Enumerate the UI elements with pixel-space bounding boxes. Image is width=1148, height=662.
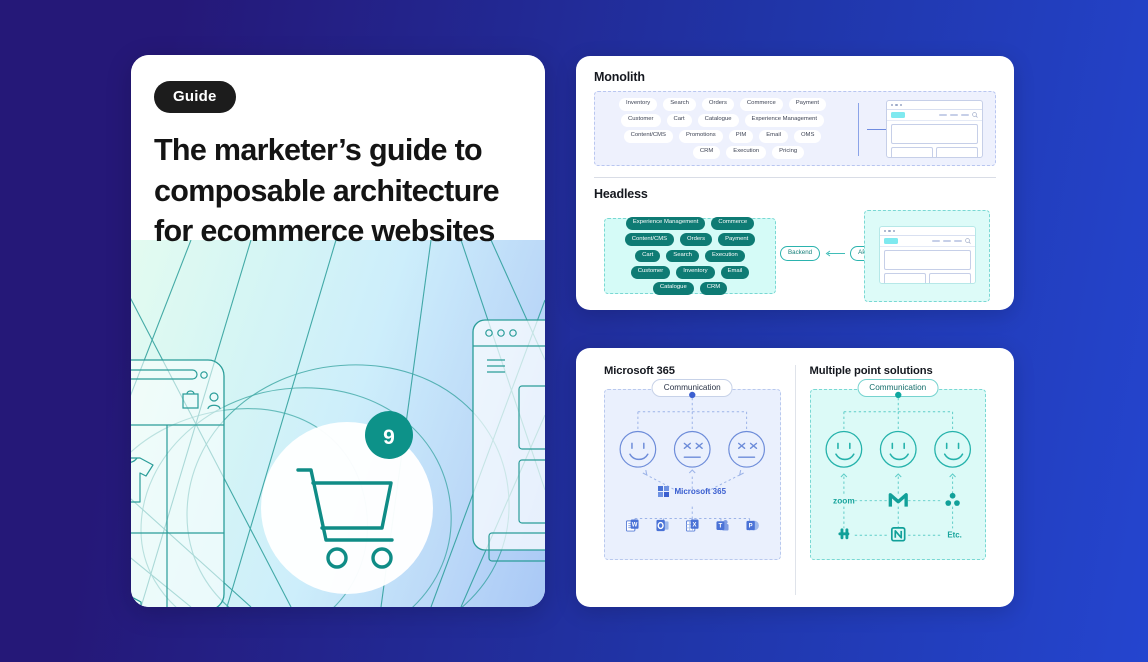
- cover-illustration: 9: [131, 240, 545, 607]
- multiple-point-solutions-graph: zoom: [811, 390, 986, 559]
- tag: Email: [759, 130, 788, 142]
- tag: Search: [663, 98, 696, 110]
- tag: Cart: [635, 250, 660, 263]
- excel-icon: X: [686, 519, 699, 532]
- window-dot: [900, 104, 902, 106]
- monolith-website-preview: [886, 100, 983, 158]
- happy-face: [944, 443, 962, 459]
- microsoft365-label: Microsoft 365: [674, 487, 726, 496]
- svg-text:P: P: [749, 524, 753, 530]
- tag: Email: [721, 266, 750, 279]
- tag: Catalogue: [653, 282, 694, 295]
- tag: Cart: [667, 114, 692, 126]
- tag: Search: [666, 250, 699, 263]
- nav-link: [961, 114, 969, 116]
- browser-titlebar: [880, 227, 975, 236]
- headless-heading: Headless: [594, 187, 996, 201]
- headless-tag-row: Catalogue CRM: [605, 282, 775, 295]
- tag: Promotions: [679, 130, 723, 142]
- site-nav-links: [939, 112, 978, 118]
- microsoft365-column: Microsoft 365 Communication: [590, 365, 796, 595]
- guide-cover-card: Guide The marketer’s guide to composable…: [131, 55, 545, 607]
- tag: OMS: [794, 130, 821, 142]
- cart-count-value: 9: [383, 426, 395, 449]
- architecture-card: Monolith Inventory Search Orders Commerc…: [576, 56, 1014, 310]
- illustration-artwork: 9: [131, 240, 545, 607]
- headless-tag-row: Content/CMS Orders Payment: [605, 233, 775, 246]
- arrow-left-icon: [825, 250, 845, 257]
- nav-link: [950, 114, 958, 116]
- tag: Customer: [621, 114, 661, 126]
- monolith-tag-row: Inventory Search Orders Commerce Payment: [605, 98, 840, 110]
- monolith-tag-row: Content/CMS Promotions PIM Email OMS: [605, 130, 840, 142]
- window-dot: [895, 104, 897, 106]
- slack-icon: [837, 528, 848, 541]
- headless-tag-row: Customer Inventory Email: [605, 266, 775, 279]
- multiple-point-solutions-diagram: Communication: [810, 389, 987, 560]
- tag: Execution: [705, 250, 745, 263]
- headless-backend-group: Experience Management Commerce Content/C…: [604, 218, 776, 294]
- hero-block: [891, 124, 978, 144]
- card-grid: [884, 273, 971, 284]
- headless-website-preview: [879, 226, 976, 284]
- microsoft365-heading: Microsoft 365: [604, 365, 781, 377]
- content-card: [929, 273, 971, 284]
- headless-frontend-group: [864, 210, 990, 302]
- site-nav-links: [932, 238, 971, 244]
- tag: Orders: [680, 233, 712, 246]
- gmail-icon: [890, 495, 906, 507]
- headless-tag-row: Experience Management Commerce: [605, 217, 775, 230]
- svg-text:X: X: [692, 522, 696, 528]
- site-logo: [891, 112, 905, 118]
- monolith-heading: Monolith: [594, 70, 996, 84]
- unhappy-face: [739, 443, 757, 457]
- word-icon: W: [626, 519, 639, 532]
- browser-titlebar: [887, 101, 982, 110]
- zoom-label: zoom: [833, 496, 855, 506]
- powerpoint-icon: P: [746, 519, 759, 532]
- content-card: [891, 147, 933, 158]
- guide-badge: Guide: [154, 81, 236, 113]
- browser-navbar: [880, 236, 975, 247]
- monolith-tag-row: CRM Execution Pricing: [605, 146, 840, 158]
- teams-icon: T: [716, 519, 729, 532]
- content-card: [884, 273, 926, 284]
- content-card: [936, 147, 978, 158]
- tag: Execution: [726, 146, 766, 158]
- microsoft-logo-icon: [658, 486, 669, 497]
- tag: Inventory: [676, 266, 714, 279]
- tag: Payment: [718, 233, 755, 246]
- nav-link: [932, 240, 940, 242]
- tag: CRM: [700, 282, 727, 295]
- tag: Commerce: [740, 98, 783, 110]
- asana-icon: [945, 493, 959, 506]
- headless-tag-row: Cart Search Execution: [605, 250, 775, 263]
- headless-tag-group: Experience Management Commerce Content/C…: [605, 217, 775, 294]
- search-icon: [965, 238, 971, 244]
- happy-face: [630, 443, 648, 459]
- card-grid: [891, 147, 978, 158]
- svg-text:T: T: [718, 523, 722, 530]
- tag: Customer: [631, 266, 671, 279]
- office-app-row: W X: [617, 519, 768, 532]
- happy-face: [890, 443, 908, 459]
- window-dot: [888, 230, 890, 232]
- section-divider: [594, 177, 996, 178]
- etc-label: Etc.: [947, 530, 961, 539]
- nav-link: [939, 114, 947, 116]
- communication-comparison-card: Microsoft 365 Communication: [576, 348, 1014, 607]
- happy-face: [835, 443, 853, 459]
- tag: Inventory: [619, 98, 657, 110]
- tag: Content/CMS: [625, 233, 674, 246]
- monolith-tag-group: Inventory Search Orders Commerce Payment…: [595, 98, 840, 158]
- search-icon: [972, 112, 978, 118]
- svg-text:W: W: [631, 522, 637, 528]
- tag: Pricing: [772, 146, 804, 158]
- window-dot: [884, 230, 886, 232]
- unhappy-face: [684, 443, 702, 457]
- tag: CRM: [693, 146, 720, 158]
- tag: Experience Management: [626, 217, 706, 230]
- microsoft365-logo: Microsoft 365: [605, 486, 780, 497]
- nav-link: [954, 240, 962, 242]
- multiple-point-solutions-column: Multiple point solutions Communication: [796, 365, 1001, 595]
- monolith-tag-row: Customer Cart Catalogue Experience Manag…: [605, 114, 840, 126]
- microsoft365-graph: [605, 390, 780, 559]
- nav-link: [943, 240, 951, 242]
- headless-diagram: Experience Management Commerce Content/C…: [594, 210, 996, 300]
- hero-block: [884, 250, 971, 270]
- tag: Orders: [702, 98, 734, 110]
- backend-pill: Backend: [780, 246, 820, 261]
- tag: PIM: [729, 130, 753, 142]
- screen: Guide The marketer’s guide to composable…: [0, 0, 1148, 662]
- notion-icon: [891, 528, 904, 541]
- monolith-separator-line: [858, 103, 859, 156]
- monolith-diagram: Inventory Search Orders Commerce Payment…: [594, 91, 996, 166]
- cover-header: Guide The marketer’s guide to composable…: [131, 55, 545, 240]
- tag: Catalogue: [698, 114, 739, 126]
- tag: Experience Management: [745, 114, 825, 126]
- page-title: The marketer’s guide to composable archi…: [154, 130, 522, 252]
- outlook-icon: [656, 519, 669, 532]
- tag: Commerce: [711, 217, 754, 230]
- window-dot: [893, 230, 895, 232]
- microsoft365-diagram: Communication: [604, 389, 781, 560]
- window-dot: [891, 104, 893, 106]
- site-logo: [884, 238, 898, 244]
- tag: Content/CMS: [624, 130, 673, 142]
- multiple-point-solutions-heading: Multiple point solutions: [810, 365, 987, 377]
- browser-navbar: [887, 110, 982, 121]
- tag: Payment: [789, 98, 826, 110]
